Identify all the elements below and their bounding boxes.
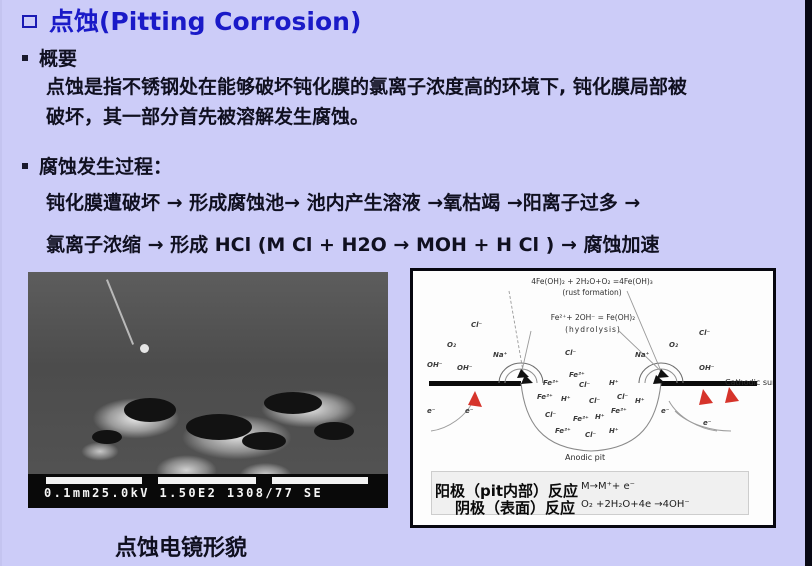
sem-pit-cavity (314, 422, 354, 440)
anode-reaction-equation: M→M⁺+ e⁻ (581, 481, 635, 492)
sem-pit-cavity (124, 398, 176, 422)
sem-image-caption: 点蚀电镜形貌 (115, 530, 247, 562)
ion-label-cl: Cl⁻ (471, 321, 482, 329)
ion-label-cl: Cl⁻ (579, 381, 590, 389)
sem-scale-ticks (46, 477, 368, 484)
section-heading-overview: 概要 (22, 44, 77, 71)
overview-heading-label: 概要 (39, 44, 77, 71)
slide-right-edge (805, 0, 812, 566)
small-square-bullet-icon (22, 163, 28, 169)
ion-label-h: H⁺ (595, 413, 605, 421)
ion-label-na: Na⁺ (493, 351, 507, 359)
ion-label-electron: e⁻ (703, 419, 711, 427)
sem-info-bar-text: 0.1mm25.0kV 1.50E2 1308/77 SE (44, 486, 323, 500)
ion-label-cl: Cl⁻ (589, 397, 600, 405)
overview-paragraph-line2: 破坏，其一部分首先被溶解发生腐蚀。 (46, 102, 369, 132)
ion-label-fe: Fe²⁺ (537, 393, 553, 401)
ion-label-electron: e⁻ (661, 407, 669, 415)
ion-label-electron: e⁻ (465, 407, 473, 415)
ion-label-o2: O₂ (447, 341, 456, 349)
ion-label-cl: Cl⁻ (565, 349, 576, 357)
sem-pit-cavity (92, 430, 122, 444)
ion-label-fe: Fe²⁺ (611, 407, 627, 415)
ion-label-h: H⁺ (609, 427, 619, 435)
rust-formation-equation-line1: 4Fe(OH)₂ + 2H₂O+O₂ =4Fe(OH)₃ (477, 277, 707, 286)
hydrolysis-equation-line2: (hydrolysis) (505, 325, 681, 334)
process-step-line2: 氯离子浓缩 → 形成 HCl (M Cl + H2O → MOH + H Cl … (46, 230, 660, 257)
page-title: 点蚀(Pitting Corrosion) (49, 2, 361, 38)
sem-pit-cavity (242, 432, 286, 450)
ion-label-fe: Fe²⁺ (573, 415, 589, 423)
pitting-mechanism-diagram: 4Fe(OH)₂ + 2H₂O+O₂ =4Fe(OH)₃ (rust forma… (410, 268, 776, 528)
overview-paragraph-line1: 点蚀是指不锈钢处在能够破坏钝化膜的氯离子浓度高的环境下, 钝化膜局部被 (46, 72, 687, 102)
process-step-line1: 钝化膜遭破坏 → 形成腐蚀池→ 池内产生溶液 →氧枯竭 →阳离子过多 → (46, 188, 640, 215)
ion-label-fe: Fe²⁺ (569, 371, 585, 379)
rust-formation-equation-line2: (rust formation) (477, 288, 707, 297)
hydrolysis-equation-line1: Fe²⁺+ 2OH⁻ = Fe(OH)₂ (505, 313, 681, 322)
ion-label-fe: Fe²⁺ (543, 379, 559, 387)
slide-left-edge (0, 0, 2, 566)
process-heading-label: 腐蚀发生过程： (39, 152, 172, 179)
ion-label-h: H⁺ (635, 397, 645, 405)
small-square-bullet-icon (22, 55, 28, 61)
sem-probe-tip (140, 344, 149, 353)
hollow-square-bullet-icon (22, 15, 37, 28)
anodic-pit-label: Anodic pit (565, 453, 605, 462)
ion-label-o2: O₂ (669, 341, 678, 349)
ion-label-oh: OH⁻ (699, 364, 715, 372)
cathodic-surface-label: Cathodic surface (725, 378, 776, 387)
sem-info-bar: 0.1mm25.0kV 1.50E2 1308/77 SE (28, 474, 388, 508)
ion-label-h: H⁺ (609, 379, 619, 387)
ion-label-cl: Cl⁻ (617, 393, 628, 401)
ion-label-h: H⁺ (561, 395, 571, 403)
ion-label-na: Na⁺ (635, 351, 649, 359)
ion-label-electron: e⁻ (427, 407, 435, 415)
sem-pit-cavity (264, 392, 322, 414)
ion-label-cl: Cl⁻ (545, 411, 556, 419)
sem-surface-texture (28, 272, 388, 508)
ion-label-fe: Fe²⁺ (555, 427, 571, 435)
section-heading-process: 腐蚀发生过程： (22, 152, 172, 179)
cathode-reaction-label-cn: 阴极（表面）反应 (455, 497, 575, 518)
sem-pit-cavity (186, 414, 252, 440)
cathode-reaction-equation: O₂ +2H₂O+4e →4OH⁻ (581, 499, 690, 510)
ion-label-cl: Cl⁻ (585, 431, 596, 439)
sem-micrograph-image: 0.1mm25.0kV 1.50E2 1308/77 SE (28, 272, 388, 508)
ion-label-oh: OH⁻ (427, 361, 443, 369)
slide-title-row: 点蚀(Pitting Corrosion) (22, 2, 361, 38)
ion-label-cl: Cl⁻ (699, 329, 710, 337)
ion-label-oh: OH⁻ (457, 364, 473, 372)
